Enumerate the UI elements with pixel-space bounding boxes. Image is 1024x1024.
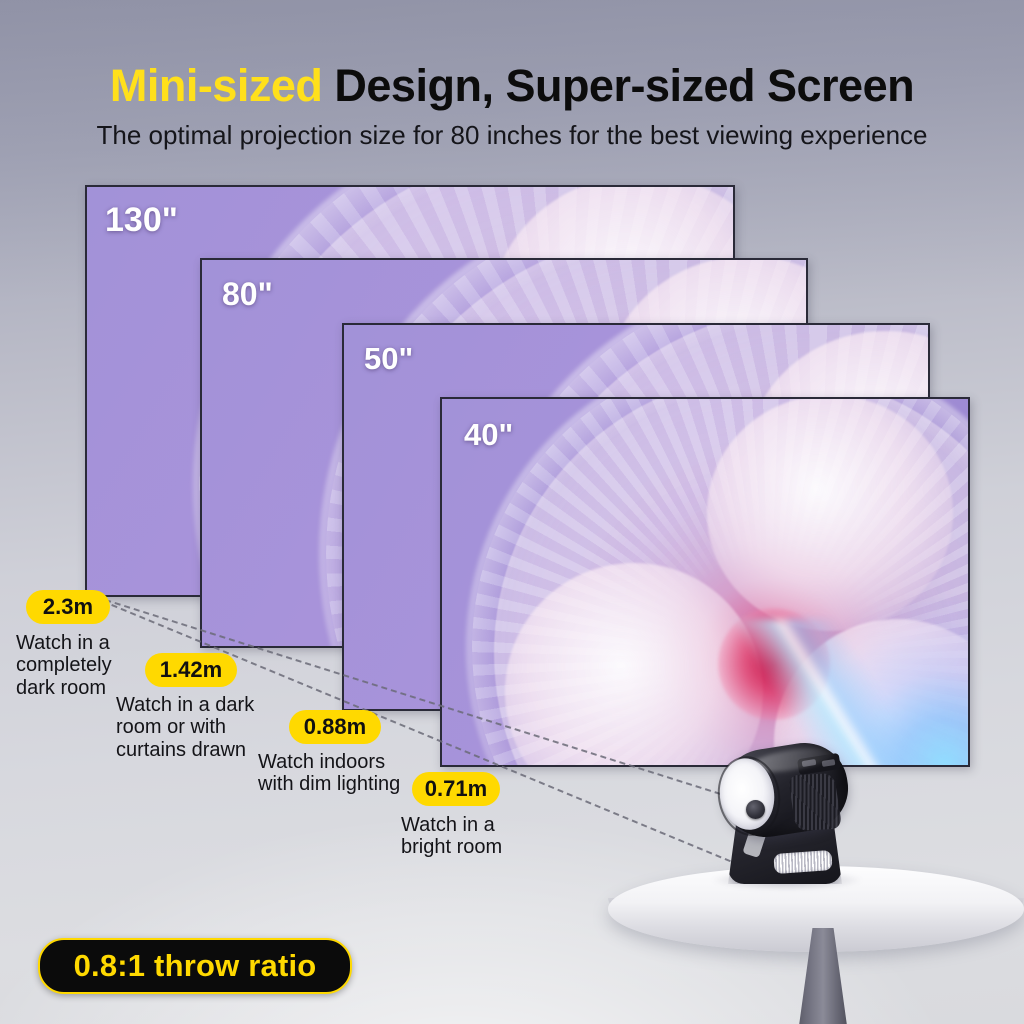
distance-pill-1-42m: 1.42m	[145, 653, 237, 687]
distance-pill-2-3m: 2.3m	[26, 590, 110, 624]
headline-highlight: Mini-sized	[110, 60, 323, 111]
projection-screen-40: 40"	[440, 397, 970, 767]
distance-caption-1-42m: Watch in a dark room or with curtains dr…	[116, 694, 266, 761]
screen-size-label-40: 40"	[464, 417, 513, 453]
throw-ratio-badge: 0.8:1 throw ratio	[38, 938, 352, 994]
distance-caption-0-88m: Watch indoors with dim lighting	[258, 751, 418, 796]
screen-size-label-130: 130"	[105, 201, 178, 240]
distance-pill-0-88m: 0.88m	[289, 710, 381, 744]
distance-caption-2-3m: Watch in a completely dark room	[16, 632, 126, 699]
projector-pivot-knob	[746, 800, 765, 819]
projector-device	[706, 744, 866, 892]
distance-caption-0-71m: Watch in a bright room	[401, 814, 541, 859]
distance-pill-0-71m: 0.71m	[412, 772, 500, 806]
projector-vent-grille	[788, 773, 843, 831]
product-infographic: 130" 80" 50"	[0, 0, 1024, 1024]
headline-rest: Design, Super-sized Screen	[322, 60, 914, 111]
page-title: Mini-sized Design, Super-sized Screen	[0, 60, 1024, 112]
screen-size-label-50: 50"	[364, 341, 413, 377]
page-subtitle: The optimal projection size for 80 inche…	[0, 120, 1024, 151]
screen-wash-40	[442, 399, 968, 765]
projector-speaker-grille	[773, 850, 832, 874]
screen-size-label-80: 80"	[222, 276, 273, 313]
